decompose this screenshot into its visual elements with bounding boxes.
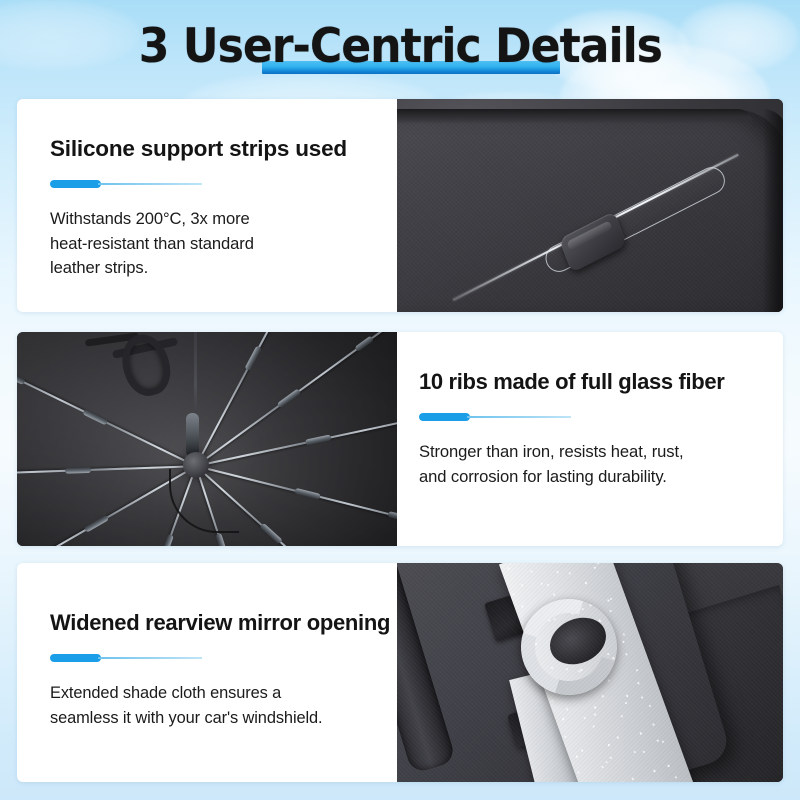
card-text-pane: 10 ribs made of full glass fiber Stronge… [397,332,783,546]
divider-accent-segment [50,654,101,662]
divider-thin-line [467,416,571,418]
panel-right-edge [763,109,783,312]
product-photo-illustration [397,99,783,312]
product-photo-illustration [17,332,397,546]
fabric-texture [397,563,783,782]
feature-card-rearview-mirror-opening: Widened rearview mirror opening Extended… [17,563,783,782]
card-photo-silicone-strip [397,99,783,312]
card-heading: 10 ribs made of full glass fiber [419,368,769,396]
card-photo-mirror-opening [397,563,783,782]
title-inner: 3 User-Centric Details [122,18,679,76]
sunshade-panel [397,109,783,312]
card-text-pane: Widened rearview mirror opening Extended… [17,563,397,782]
divider-accent-segment [419,413,470,421]
feature-card-silicone-support-strips: Silicone support strips used Withstands … [17,99,783,312]
card-body-text: Withstands 200°C, 3x more heat-resistant… [50,207,387,281]
card-divider [50,654,202,662]
divider-accent-segment [50,180,101,188]
card-text-pane: Silicone support strips used Withstands … [17,99,397,312]
card-body-text: Extended shade cloth ensures a seamless … [50,681,389,730]
card-heading: Silicone support strips used [50,135,387,163]
page-title: 3 User-Centric Details [138,18,661,76]
feature-card-glass-fiber-ribs: 10 ribs made of full glass fiber Stronge… [17,332,783,546]
page-title-area: 3 User-Centric Details [0,18,800,80]
umbrella-slider [186,413,199,457]
card-photo-umbrella-ribs [17,332,397,546]
card-heading: Widened rearview mirror opening [50,609,389,637]
card-divider [50,180,202,188]
card-divider [419,413,571,421]
umbrella-hub [183,452,209,478]
divider-thin-line [98,183,202,185]
product-photo-illustration [397,563,783,782]
card-body-text: Stronger than iron, resists heat, rust, … [419,440,769,489]
panel-top-bevel [397,109,753,124]
divider-thin-line [98,657,202,659]
